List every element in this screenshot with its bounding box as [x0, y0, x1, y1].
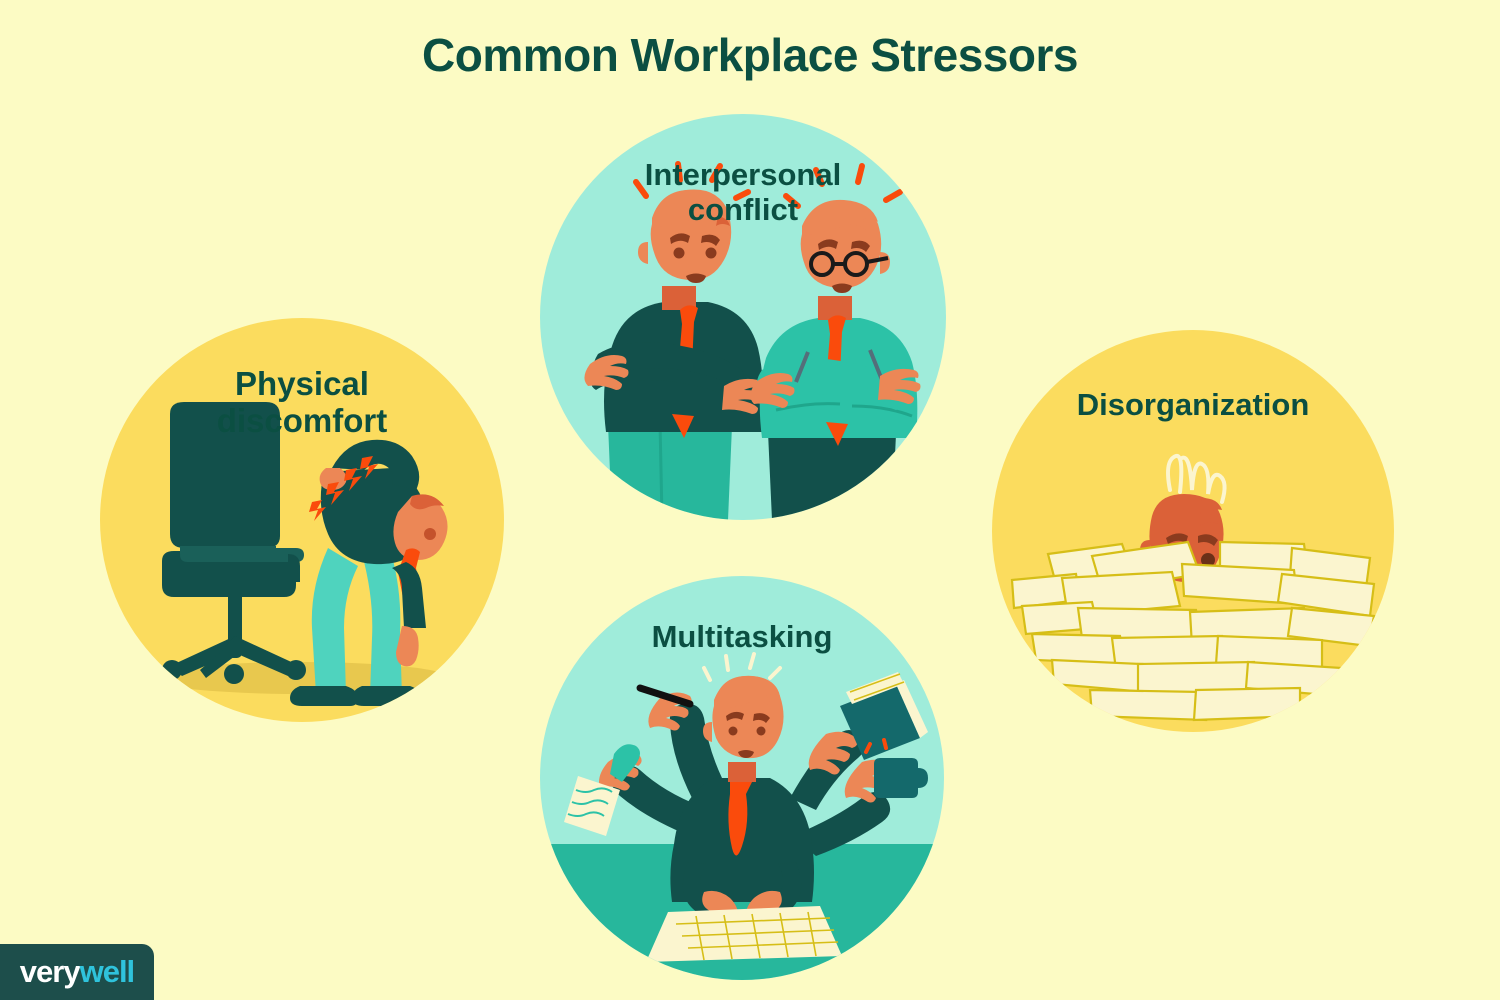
- logo-wordmark: verywell: [20, 954, 134, 990]
- stressor-card-physical-discomfort[interactable]: Physical discomfort: [100, 318, 504, 722]
- infographic-canvas: Common Workplace Stressors: [0, 0, 1500, 1000]
- circle-background-yellow: [100, 318, 504, 722]
- disorganization-illustration: [992, 330, 1394, 732]
- verywell-logo[interactable]: verywell: [0, 944, 154, 1000]
- circle-background-yellow: [992, 330, 1394, 732]
- circle-background-mint: [540, 576, 944, 980]
- page-title: Common Workplace Stressors: [0, 28, 1500, 82]
- stressor-card-disorganization[interactable]: Disorganization: [992, 330, 1394, 732]
- interpersonal-conflict-illustration: [540, 114, 946, 520]
- multitasking-illustration: [540, 576, 944, 980]
- logo-text-well: well: [80, 954, 135, 989]
- stressor-card-multitasking[interactable]: Multitasking: [540, 576, 944, 980]
- physical-discomfort-illustration: [100, 318, 504, 722]
- logo-text-very: very: [20, 954, 80, 989]
- stressor-card-interpersonal-conflict[interactable]: Interpersonal conflict: [540, 114, 946, 520]
- circle-background-mint: [540, 114, 946, 520]
